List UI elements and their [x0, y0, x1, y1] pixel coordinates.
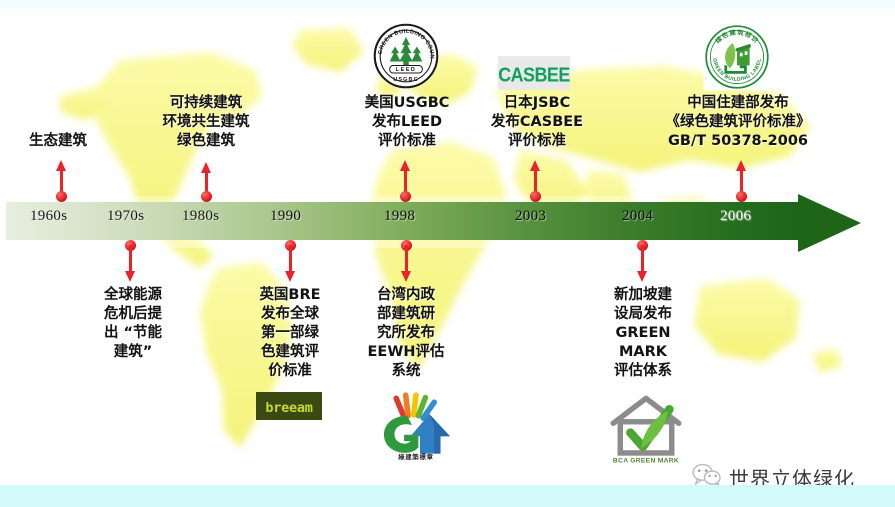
marker-1980s	[201, 162, 212, 202]
usgbc-leed-logo: U.S. GREEN BUILDING COUNCIL LEED USGBC	[372, 22, 440, 90]
timeline-year-1980s[interactable]: 1980s	[182, 208, 219, 225]
marker-1998-above	[400, 160, 411, 202]
timeline-year-2006[interactable]: 2006	[720, 208, 751, 225]
top-strip	[0, 0, 895, 9]
svg-text:LEED: LEED	[396, 67, 417, 73]
event-label-eco-architecture: 生态建筑	[8, 132, 108, 151]
event-label-sustainable-architecture: 可持续建筑 环境共生建筑 绿色建筑	[142, 94, 270, 151]
timeline-year-1990[interactable]: 1990	[270, 208, 301, 225]
timeline-year-2003[interactable]: 2003	[515, 208, 546, 225]
svg-text:breeam: breeam	[265, 400, 312, 416]
marker-2006	[736, 160, 747, 202]
svg-text:CASBEE: CASBEE	[498, 64, 570, 86]
event-label-china-gbel: 中国住建部发布 《绿色建筑评价标准》 GB/T 50378-2006	[638, 94, 838, 151]
marker-1990	[285, 240, 296, 282]
taiwan-green-building-label-logo: 綠建築標章	[372, 392, 460, 460]
marker-2003	[530, 160, 541, 202]
marker-1970s	[125, 240, 136, 282]
event-label-jsbc-casbee: 日本JSBC 发布CASBEE 评价标准	[482, 94, 592, 151]
event-label-usgbc-leed: 美国USGBC 发布LEED 评价标准	[352, 94, 462, 151]
svg-text:USGBC: USGBC	[393, 77, 419, 83]
marker-1960s	[56, 160, 67, 202]
timeline-infographic: 1960s 1970s 1980s 1990 1998 2003 2004 20…	[0, 0, 895, 507]
timeline-year-1970s[interactable]: 1970s	[107, 208, 144, 225]
timeline-arrowhead	[798, 194, 861, 252]
event-label-singapore-green-mark: 新加坡建 设局发布 GREEN MARK 评估体系	[597, 286, 689, 381]
bca-green-mark-logo: BCA GREEN MARK	[607, 392, 685, 464]
event-label-uk-bre-breeam: 英国BRE 发布全球 第一部绿 色建筑评 价标准	[247, 286, 333, 381]
event-label-taiwan-eewh: 台湾内政 部建筑研 究所发布 EEWH评估 系统	[360, 286, 452, 381]
timeline-year-1960s[interactable]: 1960s	[30, 208, 67, 225]
timeline-year-2004[interactable]: 2004	[622, 208, 653, 225]
svg-text:BCA GREEN MARK: BCA GREEN MARK	[613, 457, 679, 464]
bottom-strip	[0, 485, 895, 507]
marker-1998-below	[401, 240, 412, 282]
breeam-logo: breeam	[256, 392, 322, 420]
timeline-year-1998[interactable]: 1998	[384, 208, 415, 225]
casbee-logo: CASBEE	[498, 56, 570, 90]
event-label-energy-crisis: 全球能源 危机后提 出 “节能 建筑”	[84, 286, 182, 362]
marker-2004	[637, 240, 648, 282]
china-green-building-label-logo: 绿色建筑标识 GREEN BUILDING LABEL	[702, 22, 772, 92]
